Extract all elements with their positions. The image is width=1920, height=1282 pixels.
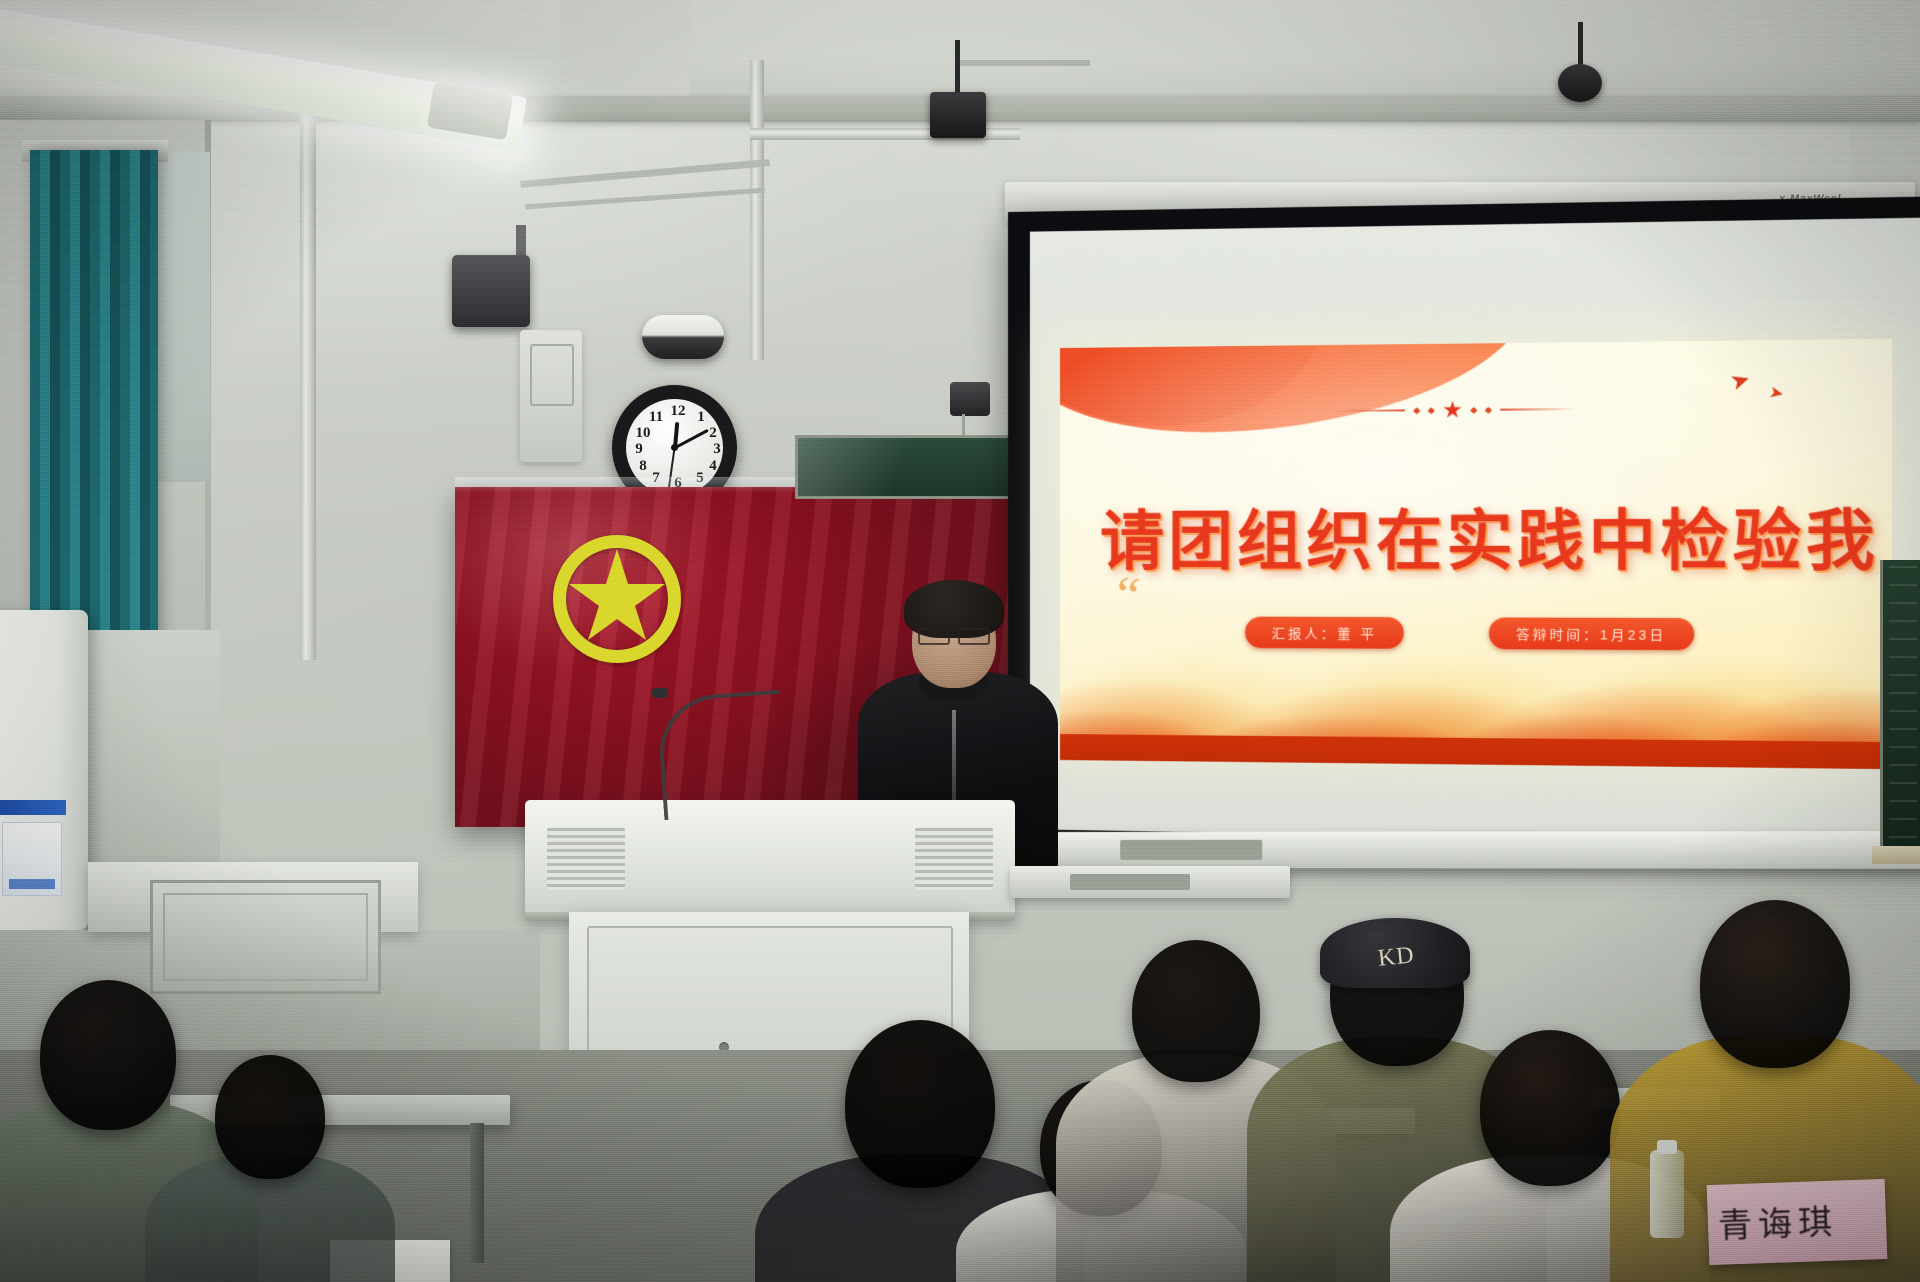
chalkboard-right-tray xyxy=(1872,846,1920,864)
slide-star-divider xyxy=(1331,400,1576,420)
chalkboard-right xyxy=(1880,560,1920,850)
equipment-tray xyxy=(1010,866,1290,898)
clock-center-pin xyxy=(671,444,678,451)
chalkboard-writing xyxy=(1889,566,1917,844)
student-front-left-second-head xyxy=(215,1055,325,1179)
clock-numeral: 12 xyxy=(669,404,687,419)
name-card-text: 青诲琪 xyxy=(1717,1195,1839,1248)
chalkboard-glare xyxy=(798,438,1030,496)
wall-speaker-right xyxy=(1558,64,1602,102)
divider-line-right xyxy=(1500,408,1575,411)
lectern-top xyxy=(525,800,1015,920)
wall-conduit-3 xyxy=(960,60,1090,66)
air-conditioner-brand-label xyxy=(0,800,66,815)
window-curtain[interactable] xyxy=(30,150,158,650)
name-card: 青诲琪 xyxy=(1707,1179,1888,1265)
student-front-left-head xyxy=(40,980,176,1130)
clock-numeral: 8 xyxy=(634,459,652,474)
wall-sensor-box xyxy=(950,382,990,416)
student-center-right-head xyxy=(1132,940,1260,1082)
speaker-mount-left xyxy=(955,40,960,98)
student-far-right-head xyxy=(1700,900,1850,1068)
divider-dot xyxy=(1485,406,1492,413)
ceiling-projector xyxy=(452,255,530,327)
wall-speaker-left xyxy=(930,92,986,138)
cap-logo-text: KD xyxy=(1377,942,1416,973)
air-conditioner-energy-sticker xyxy=(2,822,62,896)
clock-numeral: 10 xyxy=(634,426,652,441)
clock-numeral: 9 xyxy=(630,442,648,457)
classroom-photo: 12 1 2 3 4 5 6 7 8 9 10 11 xyxy=(0,0,1920,1282)
projector-wall-box xyxy=(520,330,582,462)
student-center-left-head xyxy=(845,1020,995,1188)
presentation-slide: ➤ ➤ ➤ 请团组织在实践中检验我 “ 汇报人：董 平 答辩时间：1月23日 xyxy=(1060,339,1892,769)
water-bottle-cap xyxy=(1657,1140,1677,1154)
student-right-head xyxy=(1480,1030,1620,1186)
window-glass xyxy=(158,152,210,482)
slide-meta-pills: 汇报人：董 平 答辩时间：1月23日 xyxy=(1060,616,1892,651)
clock-numeral: 11 xyxy=(647,410,665,425)
projection-screen-bottom-bar xyxy=(1014,831,1920,869)
slide-title: 请团组织在实践中检验我 xyxy=(1100,487,1871,583)
dome-security-camera xyxy=(642,315,724,359)
divider-dot xyxy=(1413,407,1420,414)
divider-dot xyxy=(1470,406,1477,413)
clock-numeral: 3 xyxy=(708,442,726,457)
divider-line-left xyxy=(1331,409,1405,412)
divider-dot xyxy=(1428,407,1435,414)
water-bottle xyxy=(1650,1150,1684,1238)
ceiling-soffit xyxy=(690,0,1920,111)
chalkboard-left-strip xyxy=(795,435,1033,499)
wall-pipe-vertical-2 xyxy=(750,60,764,360)
slide-date-pill: 答辩时间：1月23日 xyxy=(1489,617,1694,650)
desk-leg xyxy=(470,1123,484,1263)
presenter-glasses xyxy=(918,628,990,641)
wall-pipe-vertical xyxy=(300,100,316,660)
lectern-vent-right xyxy=(915,828,993,890)
clock-numeral: 1 xyxy=(692,410,710,425)
speaker-mount-right xyxy=(1578,22,1583,70)
star-icon xyxy=(1443,401,1462,420)
radiator-panel xyxy=(150,880,381,994)
lectern-vent-left xyxy=(547,828,625,890)
slide-presenter-pill: 汇报人：董 平 xyxy=(1245,617,1403,649)
microphone-capsule xyxy=(652,688,668,698)
